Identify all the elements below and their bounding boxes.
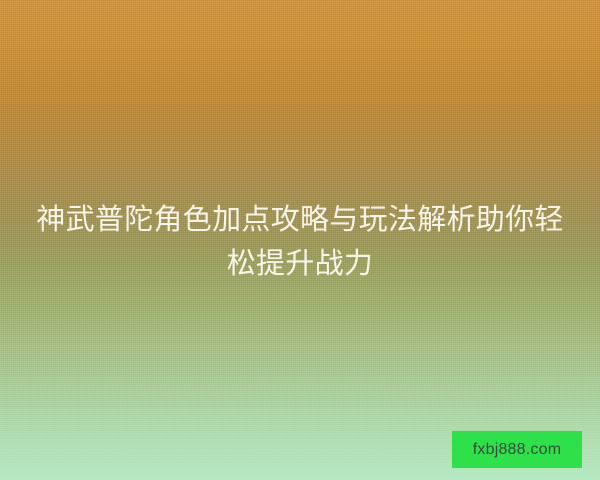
watermark-label: fxbj888.com xyxy=(473,442,561,458)
banner-image: 神武普陀角色加点攻略与玩法解析助你轻松提升战力 fxbj888.com xyxy=(0,0,600,480)
watermark-badge: fxbj888.com xyxy=(452,431,582,468)
background-gradient xyxy=(0,0,600,480)
